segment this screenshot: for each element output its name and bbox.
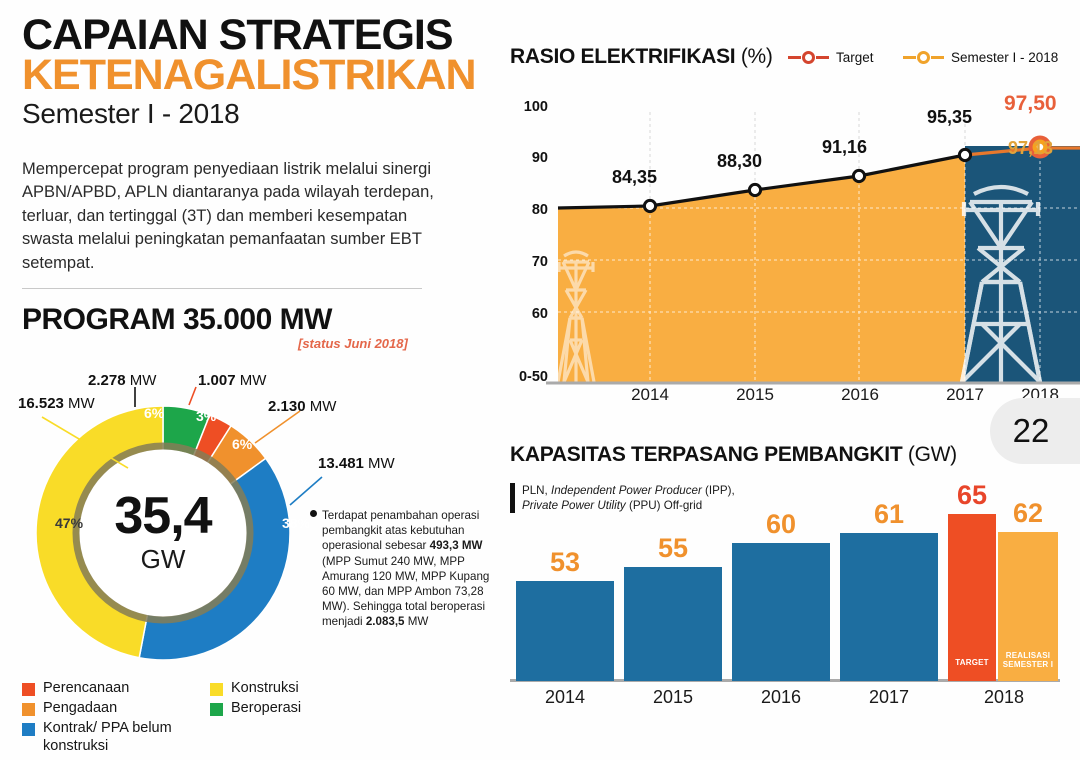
bar-value-2014: 53 [516, 547, 614, 578]
data-point-2016 [853, 170, 864, 181]
area-x-label-2017: 2017 [927, 385, 1003, 405]
bar-inner-label-target: TARGET [948, 658, 996, 667]
bar-value-2015: 55 [624, 533, 722, 564]
area-value-2017: 95,35 [927, 107, 972, 128]
legend-label-beroperasi: Beroperasi [231, 700, 301, 718]
area-value-2015: 88,30 [717, 151, 762, 172]
area-chart-section: RASIO ELEKTRIFIKASI (%) Target Semester … [500, 0, 1080, 410]
legend-label-kontrak: Kontrak/ PPA belum konstruksi [43, 720, 182, 755]
bar-2017[interactable] [840, 533, 938, 681]
left-column: CAPAIAN STRATEGIS KETENAGALISTRIKAN Seme… [0, 0, 500, 760]
donut-label-beroperasi-value: 2.278 [88, 372, 126, 389]
donut-pct-beroperasi: 6% [144, 405, 164, 421]
bar-chart-section: KAPASITAS TERPASANG PEMBANGKIT (GW) PLN,… [500, 435, 1080, 760]
donut-pct-kontrak: 38% [282, 515, 310, 531]
donut-label-kontrak: 13.481 MW [318, 455, 395, 472]
bar-x-label-2018: 2018 [950, 687, 1058, 708]
legend-item-pengadaan[interactable]: Pengadaan [22, 700, 117, 718]
legend-item-konstruksi[interactable]: Konstruksi [210, 680, 299, 698]
bar-inner-label-realisasi-l1: REALISASI [1006, 651, 1050, 660]
program-note-b1: 493,3 MW [430, 539, 483, 552]
bar-value-2017: 61 [840, 499, 938, 530]
bar-x-label-2016: 2016 [732, 687, 830, 708]
legend-label-pengadaan: Pengadaan [43, 700, 117, 718]
bar-subtitle-e: (PPU) Off-grid [626, 499, 702, 512]
bar-2016[interactable] [732, 543, 830, 681]
area-x-label-2016: 2016 [822, 385, 898, 405]
legend-item-kontrak[interactable]: Kontrak/ PPA belum konstruksi [22, 720, 182, 755]
donut-pct-konstruksi: 47% [55, 515, 83, 531]
legend-swatch-perencanaan [22, 683, 35, 696]
page-title-line2: KETENAGALISTRIKAN [22, 54, 476, 97]
legend-label-perencanaan: Perencanaan [43, 680, 129, 698]
bar-inner-label-realisasi-l2: SEMESTER I [1003, 660, 1053, 669]
donut-chart: 35,4 GW [28, 398, 298, 668]
infographic-page: CAPAIAN STRATEGIS KETENAGALISTRIKAN Seme… [0, 0, 1080, 760]
legend-swatch-beroperasi [210, 703, 223, 716]
legend-swatch-konstruksi [210, 683, 223, 696]
legend-item-beroperasi[interactable]: Beroperasi [210, 700, 301, 718]
legend-swatch-kontrak [22, 723, 35, 736]
program-section-title: PROGRAM 35.000 MW [22, 303, 332, 337]
bar-2015[interactable] [624, 567, 722, 681]
area-value-2018-realisasi: 97,13 [1008, 138, 1053, 159]
legend-label-konstruksi: Konstruksi [231, 680, 299, 698]
program-note: Terdapat penambahan operasi pembangkit a… [322, 508, 494, 630]
donut-pct-perencanaan: 3% [196, 408, 216, 424]
section-divider [22, 288, 422, 289]
bar-subtitle-marker [510, 483, 515, 513]
bar-value-2018-target: 65 [942, 480, 1002, 511]
bar-x-label-2015: 2015 [624, 687, 722, 708]
bar-subtitle-b: Independent Power Producer [551, 484, 702, 497]
donut-label-pengadaan: 2.130 MW [268, 398, 336, 415]
donut-label-konstruksi-value: 16.523 [18, 395, 64, 412]
program-status-note: [status Juni 2018] [298, 336, 408, 351]
legend-swatch-pengadaan [22, 703, 35, 716]
area-value-2014: 84,35 [612, 167, 657, 188]
donut-label-perencanaan: 1.007 MW [198, 372, 266, 389]
area-panel-projection [965, 146, 1080, 382]
donut-label-pengadaan-value: 2.130 [268, 398, 306, 415]
data-point-2014 [644, 200, 655, 211]
bullet-icon [310, 510, 317, 517]
bar-2014[interactable] [516, 581, 614, 681]
bar-chart-title-text: KAPASITAS TERPASANG PEMBANGKIT [510, 443, 902, 466]
donut-label-perencanaan-value: 1.007 [198, 372, 236, 389]
data-point-2017 [959, 149, 970, 160]
area-value-2018-target: 97,50 [1004, 92, 1057, 116]
bar-subtitle-c: (IPP), [702, 484, 735, 497]
area-x-label-2014: 2014 [612, 385, 688, 405]
bar-chart-title: KAPASITAS TERPASANG PEMBANGKIT (GW) [510, 443, 957, 467]
bar-inner-label-realisasi: REALISASI SEMESTER I [998, 651, 1058, 670]
page-title-line3: Semester I - 2018 [22, 98, 239, 130]
area-plot-svg [500, 0, 1080, 410]
bar-x-label-2017: 2017 [840, 687, 938, 708]
bar-subtitle-a: PLN, [522, 484, 551, 497]
area-value-2016: 91,16 [822, 137, 867, 158]
bar-subtitle-d: Private Power Utility [522, 499, 626, 512]
bar-value-2016: 60 [732, 509, 830, 540]
legend-item-perencanaan[interactable]: Perencanaan [22, 680, 129, 698]
bar-2018-target[interactable] [948, 514, 996, 681]
donut-pct-pengadaan: 6% [232, 436, 252, 452]
intro-paragraph: Mempercepat program penyediaan listrik m… [22, 158, 447, 275]
donut-label-kontrak-value: 13.481 [318, 455, 364, 472]
bar-x-label-2014: 2014 [516, 687, 614, 708]
data-point-2015 [749, 184, 760, 195]
bar-chart-title-unit: (GW) [908, 443, 957, 466]
program-note-p3: MW [405, 615, 429, 628]
donut-center-unit: GW [28, 546, 298, 572]
donut-label-beroperasi: 2.278 MW [88, 372, 156, 389]
bar-value-2018-realisasi: 62 [998, 498, 1058, 529]
program-note-b2: 2.083,5 [366, 615, 405, 628]
donut-label-konstruksi: 16.523 MW [18, 395, 95, 412]
area-x-label-2015: 2015 [717, 385, 793, 405]
